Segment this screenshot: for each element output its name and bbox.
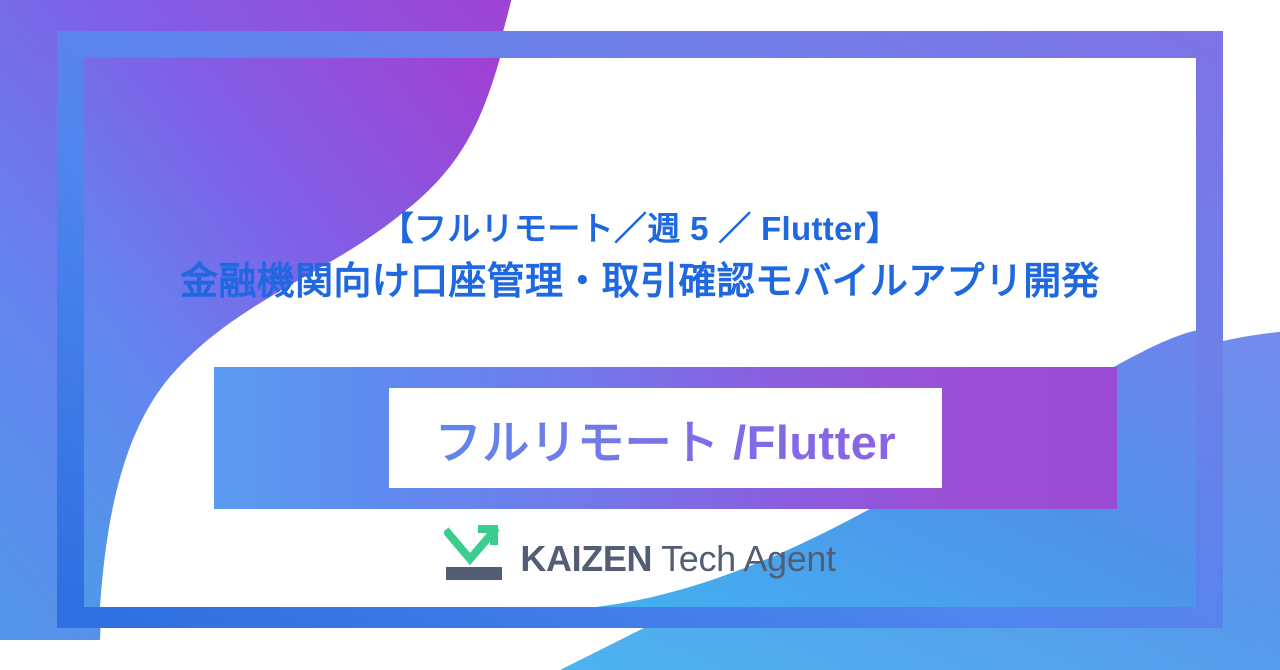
page-title: 【フルリモート／週 5 ／ Flutter】 金融機関向け口座管理・取引確認モバ…: [180, 208, 1100, 307]
tag-banner-inner: フルリモート /Flutter: [389, 388, 942, 488]
title-line-1: 【フルリモート／週 5 ／ Flutter】: [180, 208, 1100, 250]
tag-banner: フルリモート /Flutter: [214, 367, 1117, 509]
banner-canvas: 【フルリモート／週 5 ／ Flutter】 金融機関向け口座管理・取引確認モバ…: [0, 0, 1280, 670]
tag-label: フルリモート /Flutter: [435, 404, 896, 473]
brand-logo: KAIZEN Tech Agent: [0, 519, 1280, 583]
brand-wordmark: KAIZEN Tech Agent: [520, 525, 835, 577]
brand-name-bold: KAIZEN: [520, 538, 652, 579]
brand-name-regular: Tech Agent: [652, 538, 836, 579]
growth-arrow-icon: [444, 519, 506, 583]
title-line-2: 金融機関向け口座管理・取引確認モバイルアプリ開発: [180, 258, 1100, 307]
